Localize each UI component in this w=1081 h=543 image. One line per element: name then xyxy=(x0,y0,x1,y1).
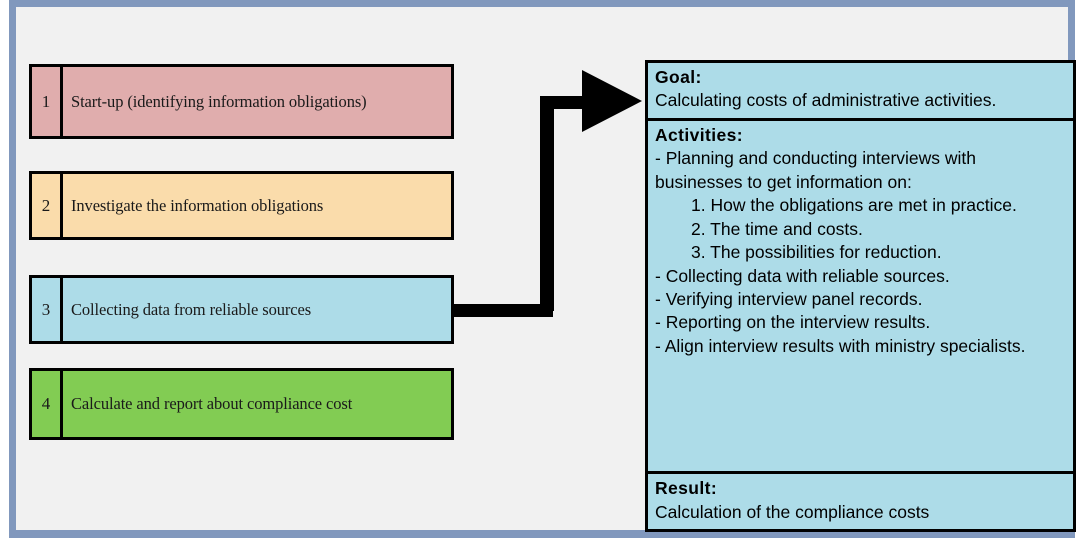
frame-border-left xyxy=(9,0,16,538)
step-label-4: Calculate and report about compliance co… xyxy=(63,371,451,437)
frame-border-top xyxy=(9,0,1075,7)
process-step-3[interactable]: 3 Collecting data from reliable sources xyxy=(29,275,454,344)
step-number-3: 3 xyxy=(32,278,63,341)
activities-bullet-line: - Reporting on the interview results. xyxy=(655,311,1067,334)
step-number-4: 4 xyxy=(32,371,63,437)
diagram-canvas: 1 Start-up (identifying information obli… xyxy=(0,0,1081,543)
step-number-2: 2 xyxy=(32,174,63,237)
process-step-2[interactable]: 2 Investigate the information obligation… xyxy=(29,171,454,240)
activities-bullet-line: - Align interview results with ministry … xyxy=(655,335,1067,358)
activities-numbered-item: 1. How the obligations are met in practi… xyxy=(691,194,1067,217)
activities-heading: Activities: xyxy=(655,124,1067,147)
result-body: Calculation of the compliance costs xyxy=(655,501,1067,524)
panel-section-goal: Goal: Calculating costs of administrativ… xyxy=(648,63,1073,118)
detail-panel: Goal: Calculating costs of administrativ… xyxy=(645,60,1076,532)
goal-heading: Goal: xyxy=(655,66,1067,89)
connector-arrow-segment-horizontal-lower xyxy=(452,304,553,317)
goal-body: Calculating costs of administrative acti… xyxy=(655,89,1067,112)
step-label-3: Collecting data from reliable sources xyxy=(63,278,451,341)
step-label-1: Start-up (identifying information obliga… xyxy=(63,67,451,136)
result-heading: Result: xyxy=(655,477,1067,500)
activities-numbered-item: 2. The time and costs. xyxy=(691,218,1067,241)
connector-arrow-segment-vertical xyxy=(540,96,554,311)
activities-bullet-line: - Collecting data with reliable sources. xyxy=(655,265,1067,288)
activities-intro-line: - Planning and conducting interviews wit… xyxy=(655,147,1067,194)
activities-numbered-item: 3. The possibilities for reduction. xyxy=(691,241,1067,264)
process-step-1[interactable]: 1 Start-up (identifying information obli… xyxy=(29,64,454,139)
step-number-1: 1 xyxy=(32,67,63,136)
panel-section-activities: Activities: - Planning and conducting in… xyxy=(648,118,1073,471)
step-label-2: Investigate the information obligations xyxy=(63,174,451,237)
diagram-stage: 1 Start-up (identifying information obli… xyxy=(16,7,1068,530)
panel-section-result: Result: Calculation of the compliance co… xyxy=(648,471,1073,529)
activities-bullet-line: - Verifying interview panel records. xyxy=(655,288,1067,311)
connector-arrowhead-icon xyxy=(582,70,642,132)
process-step-4[interactable]: 4 Calculate and report about compliance … xyxy=(29,368,454,440)
activities-numbered-list: 1. How the obligations are met in practi… xyxy=(655,194,1067,264)
